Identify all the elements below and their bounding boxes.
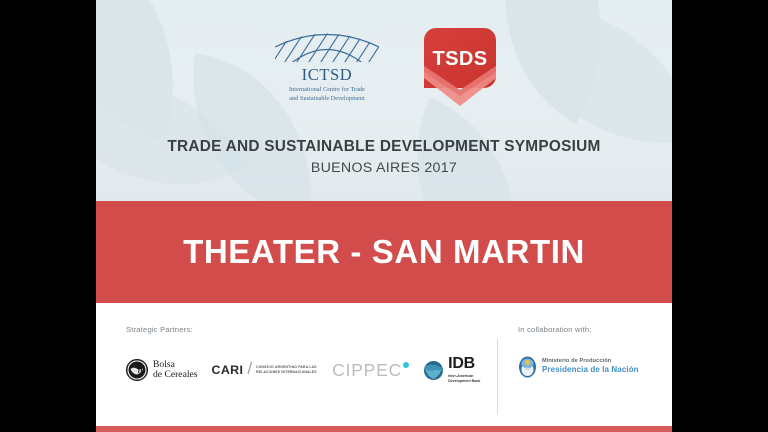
presidencia-line: Presidencia de la Nación: [542, 366, 639, 374]
logo-row: ICTSD International Centre for Trade and…: [96, 24, 672, 110]
cari-separator: /: [247, 359, 252, 379]
symposium-subtitle: BUENOS AIRES 2017: [96, 160, 672, 176]
footer-divider: [497, 339, 498, 415]
collaborator-logo-row: Ministerio de Producción Presidencia de …: [518, 356, 668, 378]
partner-logo-bolsa-de-cereales: Bolsa de Cereales: [126, 359, 197, 381]
strategic-partners-label: Strategic Partners:: [126, 325, 496, 334]
cari-acronym: CARI: [211, 363, 243, 377]
strategic-partners-section: Strategic Partners: Bolsa: [126, 325, 496, 385]
tsds-logo: TSDS: [424, 28, 496, 106]
title-block: TRADE AND SUSTAINABLE DEVELOPMENT SYMPOS…: [96, 138, 672, 176]
cari-subtitle-line2: RELACIONES INTERNACIONALES: [256, 370, 318, 375]
ictsd-logo: ICTSD International Centre for Trade and…: [272, 31, 382, 104]
ictsd-fullname-line2: and Sustainable Development: [272, 95, 382, 104]
collaborator-logo-ministerio: Ministerio de Producción Presidencia de …: [518, 356, 639, 378]
slide-footer: Strategic Partners: Bolsa: [96, 303, 672, 426]
cippec-dot-icon: [403, 362, 409, 368]
video-frame: ICTSD International Centre for Trade and…: [0, 0, 768, 432]
argentina-sun-shield-icon: [518, 356, 537, 378]
ictsd-arch-icon: [275, 31, 379, 65]
partner-logo-cippec: CIPPEC: [332, 360, 409, 381]
ictsd-fullname-line1: International Centre for Trade: [272, 86, 382, 95]
tsds-acronym: TSDS: [424, 48, 496, 71]
symposium-title: TRADE AND SUSTAINABLE DEVELOPMENT SYMPOS…: [96, 138, 672, 156]
presentation-slide: ICTSD International Centre for Trade and…: [96, 0, 672, 432]
cippec-wordmark: CIPPEC: [332, 360, 402, 381]
idb-globe-icon: [423, 360, 444, 381]
partner-logo-row: Bolsa de Cereales CARI / CONSEJO ARGENTI…: [126, 356, 496, 385]
partner-logo-cari: CARI / CONSEJO ARGENTINO PARA LAS RELACI…: [211, 360, 318, 380]
collaboration-section: In collaboration with: Ministerio de Pro…: [518, 325, 668, 378]
partner-logo-idb: IDB Inter-American Development Bank: [423, 356, 480, 385]
venue-name: THEATER - SAN MARTIN: [183, 233, 585, 271]
idb-subtitle-line2: Development Bank: [448, 379, 480, 384]
bolsa-line2: de Cereales: [153, 370, 197, 380]
collaboration-label: In collaboration with:: [518, 325, 668, 334]
idb-acronym: IDB: [448, 356, 480, 372]
bolsa-de-cereales-emblem-icon: [126, 359, 148, 381]
bottom-accent-strip: [96, 426, 672, 432]
ictsd-acronym: ICTSD: [272, 66, 382, 83]
venue-banner: THEATER - SAN MARTIN: [96, 201, 672, 303]
